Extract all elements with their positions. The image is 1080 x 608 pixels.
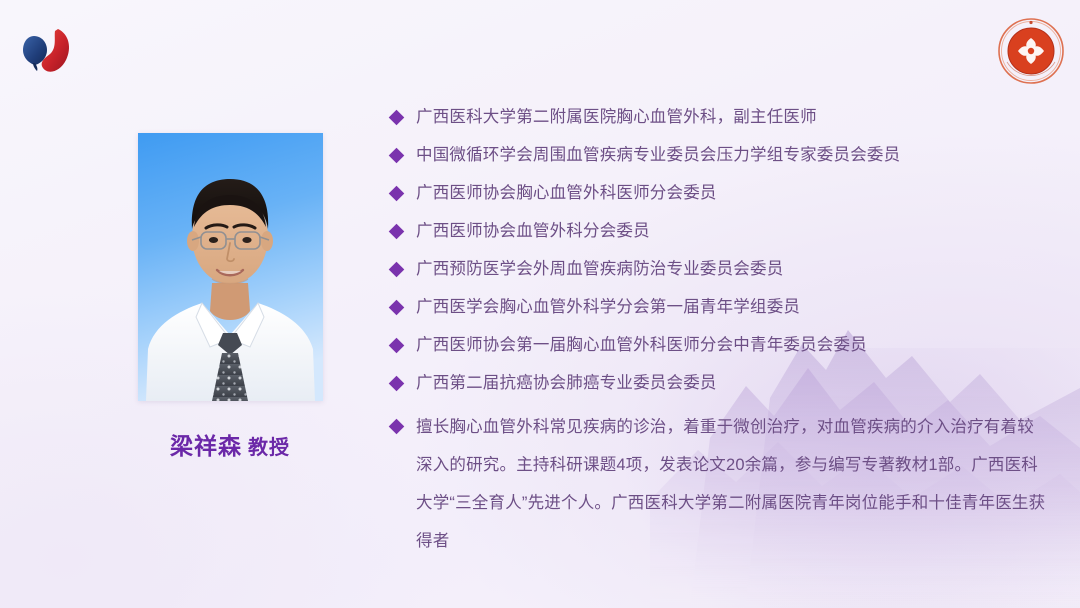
credential-text: 广西医学会胸心血管外科学分会第一届青年学组委员 bbox=[416, 298, 800, 316]
speaker-name: 梁祥森教授 bbox=[96, 433, 364, 461]
credential-item: 广西预防医学会外周血管疾病防治专业委员会委员 bbox=[390, 256, 1050, 283]
diamond-bullet-icon bbox=[389, 376, 405, 392]
speaker-title-suffix: 教授 bbox=[248, 437, 290, 459]
diamond-bullet-icon bbox=[389, 148, 405, 164]
credential-text: 广西医师协会胸心血管外科医师分会委员 bbox=[416, 184, 717, 202]
credential-text: 中国微循环学会周围血管疾病专业委员会压力学组专家委员会委员 bbox=[416, 146, 900, 164]
brand-teardrop-logo bbox=[14, 20, 76, 82]
diamond-bullet-icon bbox=[389, 110, 405, 126]
diamond-bullet-icon bbox=[389, 262, 405, 278]
credential-item: 广西医师协会第一届胸心血管外科医师分会中青年委员会委员 bbox=[390, 332, 1050, 359]
credential-text: 广西医科大学第二附属医院胸心血管外科，副主任医师 bbox=[416, 108, 817, 126]
credential-item: 广西第二届抗癌协会肺癌专业委员会委员 bbox=[390, 370, 1050, 397]
credential-item: 广西医学会胸心血管外科学分会第一届青年学组委员 bbox=[390, 294, 1050, 321]
credential-item: 广西医师协会血管外科分会委员 bbox=[390, 218, 1050, 245]
credential-text: 广西预防医学会外周血管疾病防治专业委员会委员 bbox=[416, 260, 783, 278]
credentials-list: 广西医科大学第二附属医院胸心血管外科，副主任医师 中国微循环学会周围血管疾病专业… bbox=[390, 104, 1050, 560]
credential-text: 广西医师协会第一届胸心血管外科医师分会中青年委员会委员 bbox=[416, 336, 867, 354]
credential-text: 广西医师协会血管外科分会委员 bbox=[416, 222, 650, 240]
speaker-introduction-slide: 梁祥森教授 广西医科大学第二附属医院胸心血管外科，副主任医师 中国微循环学会周围… bbox=[0, 0, 1080, 608]
diamond-bullet-icon bbox=[389, 419, 405, 435]
diamond-bullet-icon bbox=[389, 224, 405, 240]
credential-item: 广西医科大学第二附属医院胸心血管外科，副主任医师 bbox=[390, 104, 1050, 131]
diamond-bullet-icon bbox=[389, 186, 405, 202]
credential-item: 中国微循环学会周围血管疾病专业委员会压力学组专家委员会委员 bbox=[390, 142, 1050, 169]
credential-item: 广西医师协会胸心血管外科医师分会委员 bbox=[390, 180, 1050, 207]
diamond-bullet-icon bbox=[389, 338, 405, 354]
speaker-portrait-block: 梁祥森教授 bbox=[96, 133, 364, 461]
diamond-bullet-icon bbox=[389, 300, 405, 316]
credential-text: 擅长胸心血管外科常见疾病的诊治，着重于微创治疗，对血管疾病的介入治疗有着较深入的… bbox=[416, 418, 1045, 550]
speaker-name-text: 梁祥森 bbox=[170, 433, 242, 459]
credential-text: 广西第二届抗癌协会肺癌专业委员会委员 bbox=[416, 374, 717, 392]
speaker-photo bbox=[138, 133, 323, 401]
credential-item-paragraph: 擅长胸心血管外科常见疾病的诊治，着重于微创治疗，对血管疾病的介入治疗有着较深入的… bbox=[390, 408, 1050, 560]
hospital-seal-emblem bbox=[994, 14, 1068, 88]
